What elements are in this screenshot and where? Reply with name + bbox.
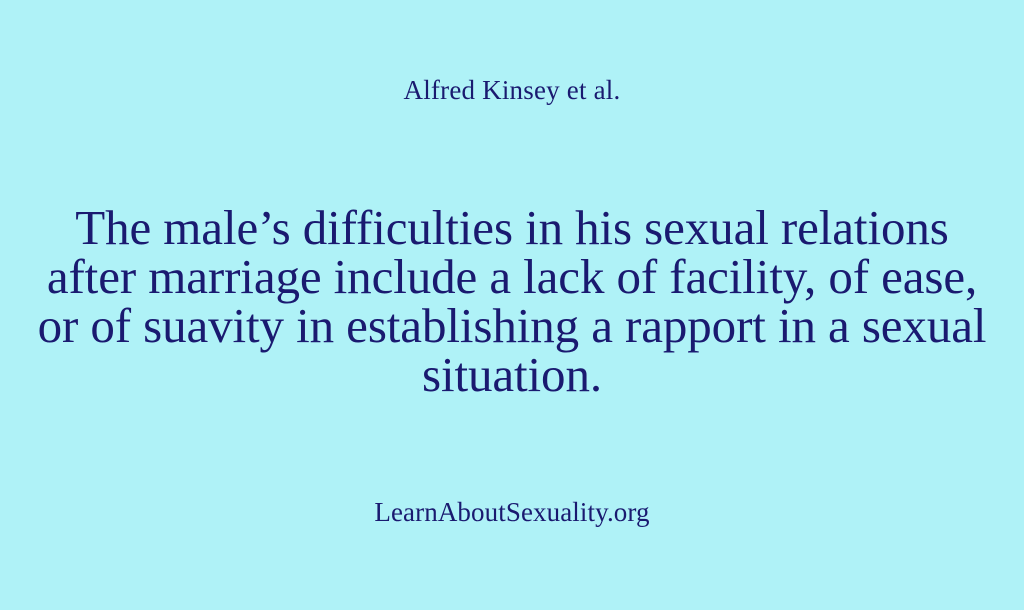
quote-line-4: situation. bbox=[24, 350, 1000, 399]
site-attribution: LearnAboutSexuality.org bbox=[0, 496, 1024, 528]
quote-line-2: after marriage include a lack of facilit… bbox=[24, 252, 1000, 301]
quote-line-3: or of suavity in establishing a rapport … bbox=[24, 301, 1000, 350]
quote-card: Alfred Kinsey et al. The male’s difficul… bbox=[0, 0, 1024, 610]
quote-line-1: The male’s difficulties in his sexual re… bbox=[24, 203, 1000, 252]
quote-text: The male’s difficulties in his sexual re… bbox=[0, 203, 1024, 399]
quote-author: Alfred Kinsey et al. bbox=[0, 74, 1024, 106]
